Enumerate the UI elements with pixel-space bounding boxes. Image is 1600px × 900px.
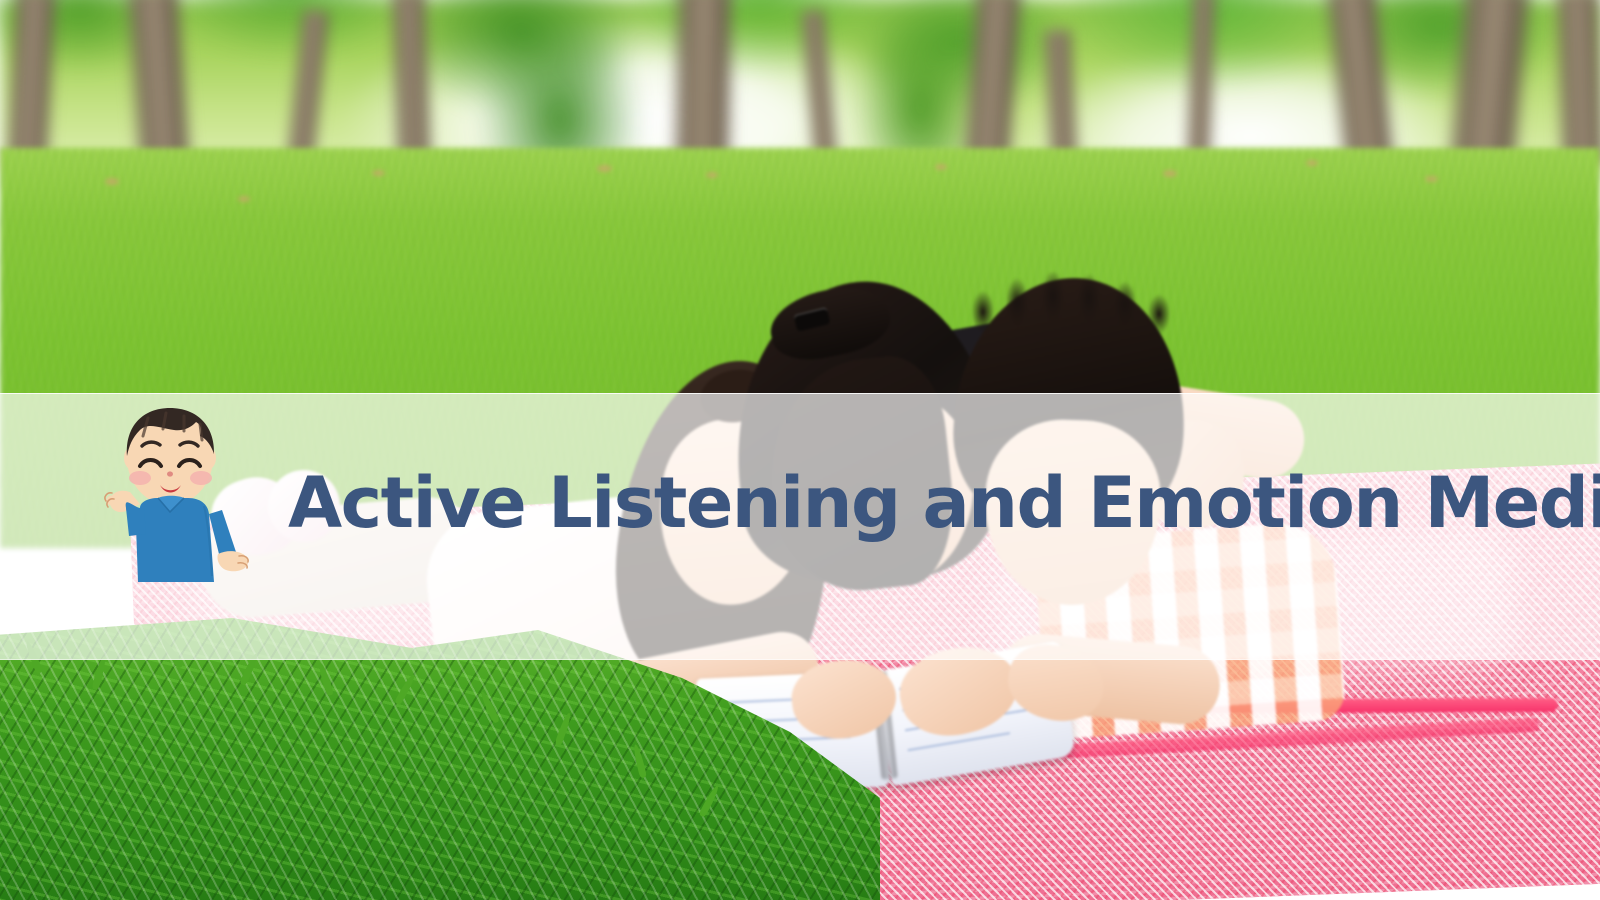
overlay-band-bottom-edge: [0, 659, 1600, 660]
boy-listening-icon: [96, 396, 256, 596]
page-title: Active Listening and Emotion Mediation: [288, 468, 1548, 538]
boy-hair-spikes: [965, 272, 1180, 336]
overlay-band-top-edge: [0, 393, 1600, 394]
page-banner: Active Listening and Emotion Mediation: [0, 0, 1600, 900]
